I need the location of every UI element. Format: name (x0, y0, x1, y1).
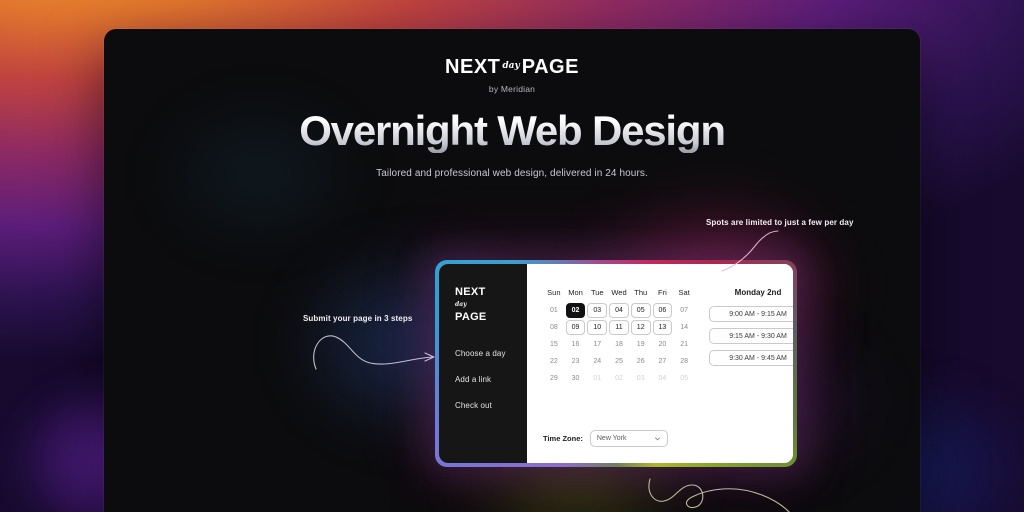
hero-header: NEXT day PAGE by Meridian Overnight Web … (104, 57, 920, 179)
sidebar-steps: Choose a day Add a link Check out (455, 349, 527, 410)
calendar-day-01: 01 (587, 371, 607, 386)
calendar-day-23: 23 (566, 354, 586, 369)
time-slot-1[interactable]: 9:00 AM - 9:15 AM (709, 306, 793, 322)
calendar-day-30: 30 (566, 371, 586, 386)
calendar-day-14: 14 (674, 320, 694, 335)
timezone-select[interactable]: New York (590, 430, 668, 447)
calendar-day-02: 02 (609, 371, 629, 386)
time-slots-list: 9:00 AM - 9:15 AM9:15 AM - 9:30 AM9:30 A… (709, 306, 793, 366)
sidebar-step-choose-a-day[interactable]: Choose a day (455, 349, 527, 358)
widget-main: SunMonTueWedThuFriSat 010203040506070809… (527, 264, 793, 463)
time-slot-3[interactable]: 9:30 AM - 9:45 AM (709, 350, 793, 366)
calendar-weekday-row: SunMonTueWedThuFriSat (543, 288, 695, 303)
calendar-day-21: 21 (674, 337, 694, 352)
time-slots-heading: Monday 2nd (709, 288, 793, 297)
calendar-day-18: 18 (609, 337, 629, 352)
timezone-value: New York (597, 435, 627, 442)
calendar-weekday-mon: Mon (565, 288, 587, 303)
calendar-weekday-thu: Thu (630, 288, 652, 303)
sidebar-step-check-out[interactable]: Check out (455, 401, 527, 410)
brand-logo-last: PAGE (522, 57, 579, 77)
calendar-weekday-wed: Wed (608, 288, 630, 303)
calendar-week-row: 29300102030405 (543, 371, 695, 386)
calendar-weekday-sun: Sun (543, 288, 565, 303)
calendar-day-01: 01 (544, 303, 564, 318)
sidebar-logo[interactable]: NEXT day PAGE (455, 286, 527, 323)
calendar-day-16: 16 (566, 337, 586, 352)
calendar-day-03: 03 (631, 371, 651, 386)
calendar-day-17: 17 (587, 337, 607, 352)
time-slots-panel: Monday 2nd 9:00 AM - 9:15 AM9:15 AM - 9:… (701, 288, 793, 463)
brand-logo-middle: day (501, 62, 520, 71)
chevron-down-icon (654, 435, 661, 442)
calendar-weekday-sat: Sat (673, 288, 695, 303)
brand-logo-first: NEXT (445, 57, 500, 77)
calendar-day-29: 29 (544, 371, 564, 386)
calendar-week-row: 15161718192021 (543, 337, 695, 352)
annotation-submit: Submit your page in 3 steps (303, 314, 412, 323)
page-title: Overnight Web Design (104, 108, 920, 153)
calendar-day-03[interactable]: 03 (587, 303, 607, 318)
time-slot-2[interactable]: 9:15 AM - 9:30 AM (709, 328, 793, 344)
booking-widget-inner: NEXT day PAGE Choose a day Add a link Ch… (439, 264, 793, 463)
sidebar-logo-middle: day (455, 299, 527, 311)
booking-widget: NEXT day PAGE Choose a day Add a link Ch… (435, 260, 797, 467)
calendar-weekday-tue: Tue (586, 288, 608, 303)
calendar-day-08: 08 (544, 320, 564, 335)
calendar-day-12[interactable]: 12 (631, 320, 651, 335)
calendar-week-row: 08091011121314 (543, 320, 695, 335)
calendar-day-05: 05 (674, 371, 694, 386)
calendar-day-13[interactable]: 13 (653, 320, 673, 335)
annotation-spots: Spots are limited to just a few per day (706, 218, 854, 227)
hero-subtitle: Tailored and professional web design, de… (104, 168, 920, 179)
calendar-day-25: 25 (609, 354, 629, 369)
calendar-day-04: 04 (653, 371, 673, 386)
calendar-day-26: 26 (631, 354, 651, 369)
calendar-day-20: 20 (653, 337, 673, 352)
timezone-row: Time Zone: New York (543, 430, 668, 447)
hero-card: NEXT day PAGE by Meridian Overnight Web … (104, 29, 920, 512)
sidebar-step-add-a-link[interactable]: Add a link (455, 375, 527, 384)
widget-sidebar: NEXT day PAGE Choose a day Add a link Ch… (439, 264, 527, 463)
calendar-day-02-selected[interactable]: 02 (566, 303, 586, 318)
calendar-day-28: 28 (674, 354, 694, 369)
calendar-week-row: 22232425262728 (543, 354, 695, 369)
calendar-day-06[interactable]: 06 (653, 303, 673, 318)
calendar-day-07: 07 (674, 303, 694, 318)
curved-arrow-icon-submit (310, 325, 442, 371)
brand-logo[interactable]: NEXT day PAGE (445, 57, 579, 77)
calendar-day-22: 22 (544, 354, 564, 369)
calendar-day-24: 24 (587, 354, 607, 369)
calendar-day-19: 19 (631, 337, 651, 352)
timezone-label: Time Zone: (543, 434, 583, 443)
calendar-week-row: 01020304050607 (543, 303, 695, 318)
calendar-day-11[interactable]: 11 (609, 320, 629, 335)
sidebar-logo-last: PAGE (455, 311, 487, 323)
calendar-day-27: 27 (653, 354, 673, 369)
calendar-date-grid: 0102030405060708091011121314151617181920… (543, 303, 695, 386)
calendar-day-10[interactable]: 10 (587, 320, 607, 335)
sidebar-logo-first: NEXT (455, 286, 486, 298)
calendar-day-15: 15 (544, 337, 564, 352)
calendar-day-09[interactable]: 09 (566, 320, 586, 335)
calendar-day-04[interactable]: 04 (609, 303, 629, 318)
looping-arrow-icon-email (644, 473, 859, 512)
calendar-day-05[interactable]: 05 (631, 303, 651, 318)
brand-byline: by Meridian (104, 84, 920, 94)
calendar-weekday-fri: Fri (652, 288, 674, 303)
